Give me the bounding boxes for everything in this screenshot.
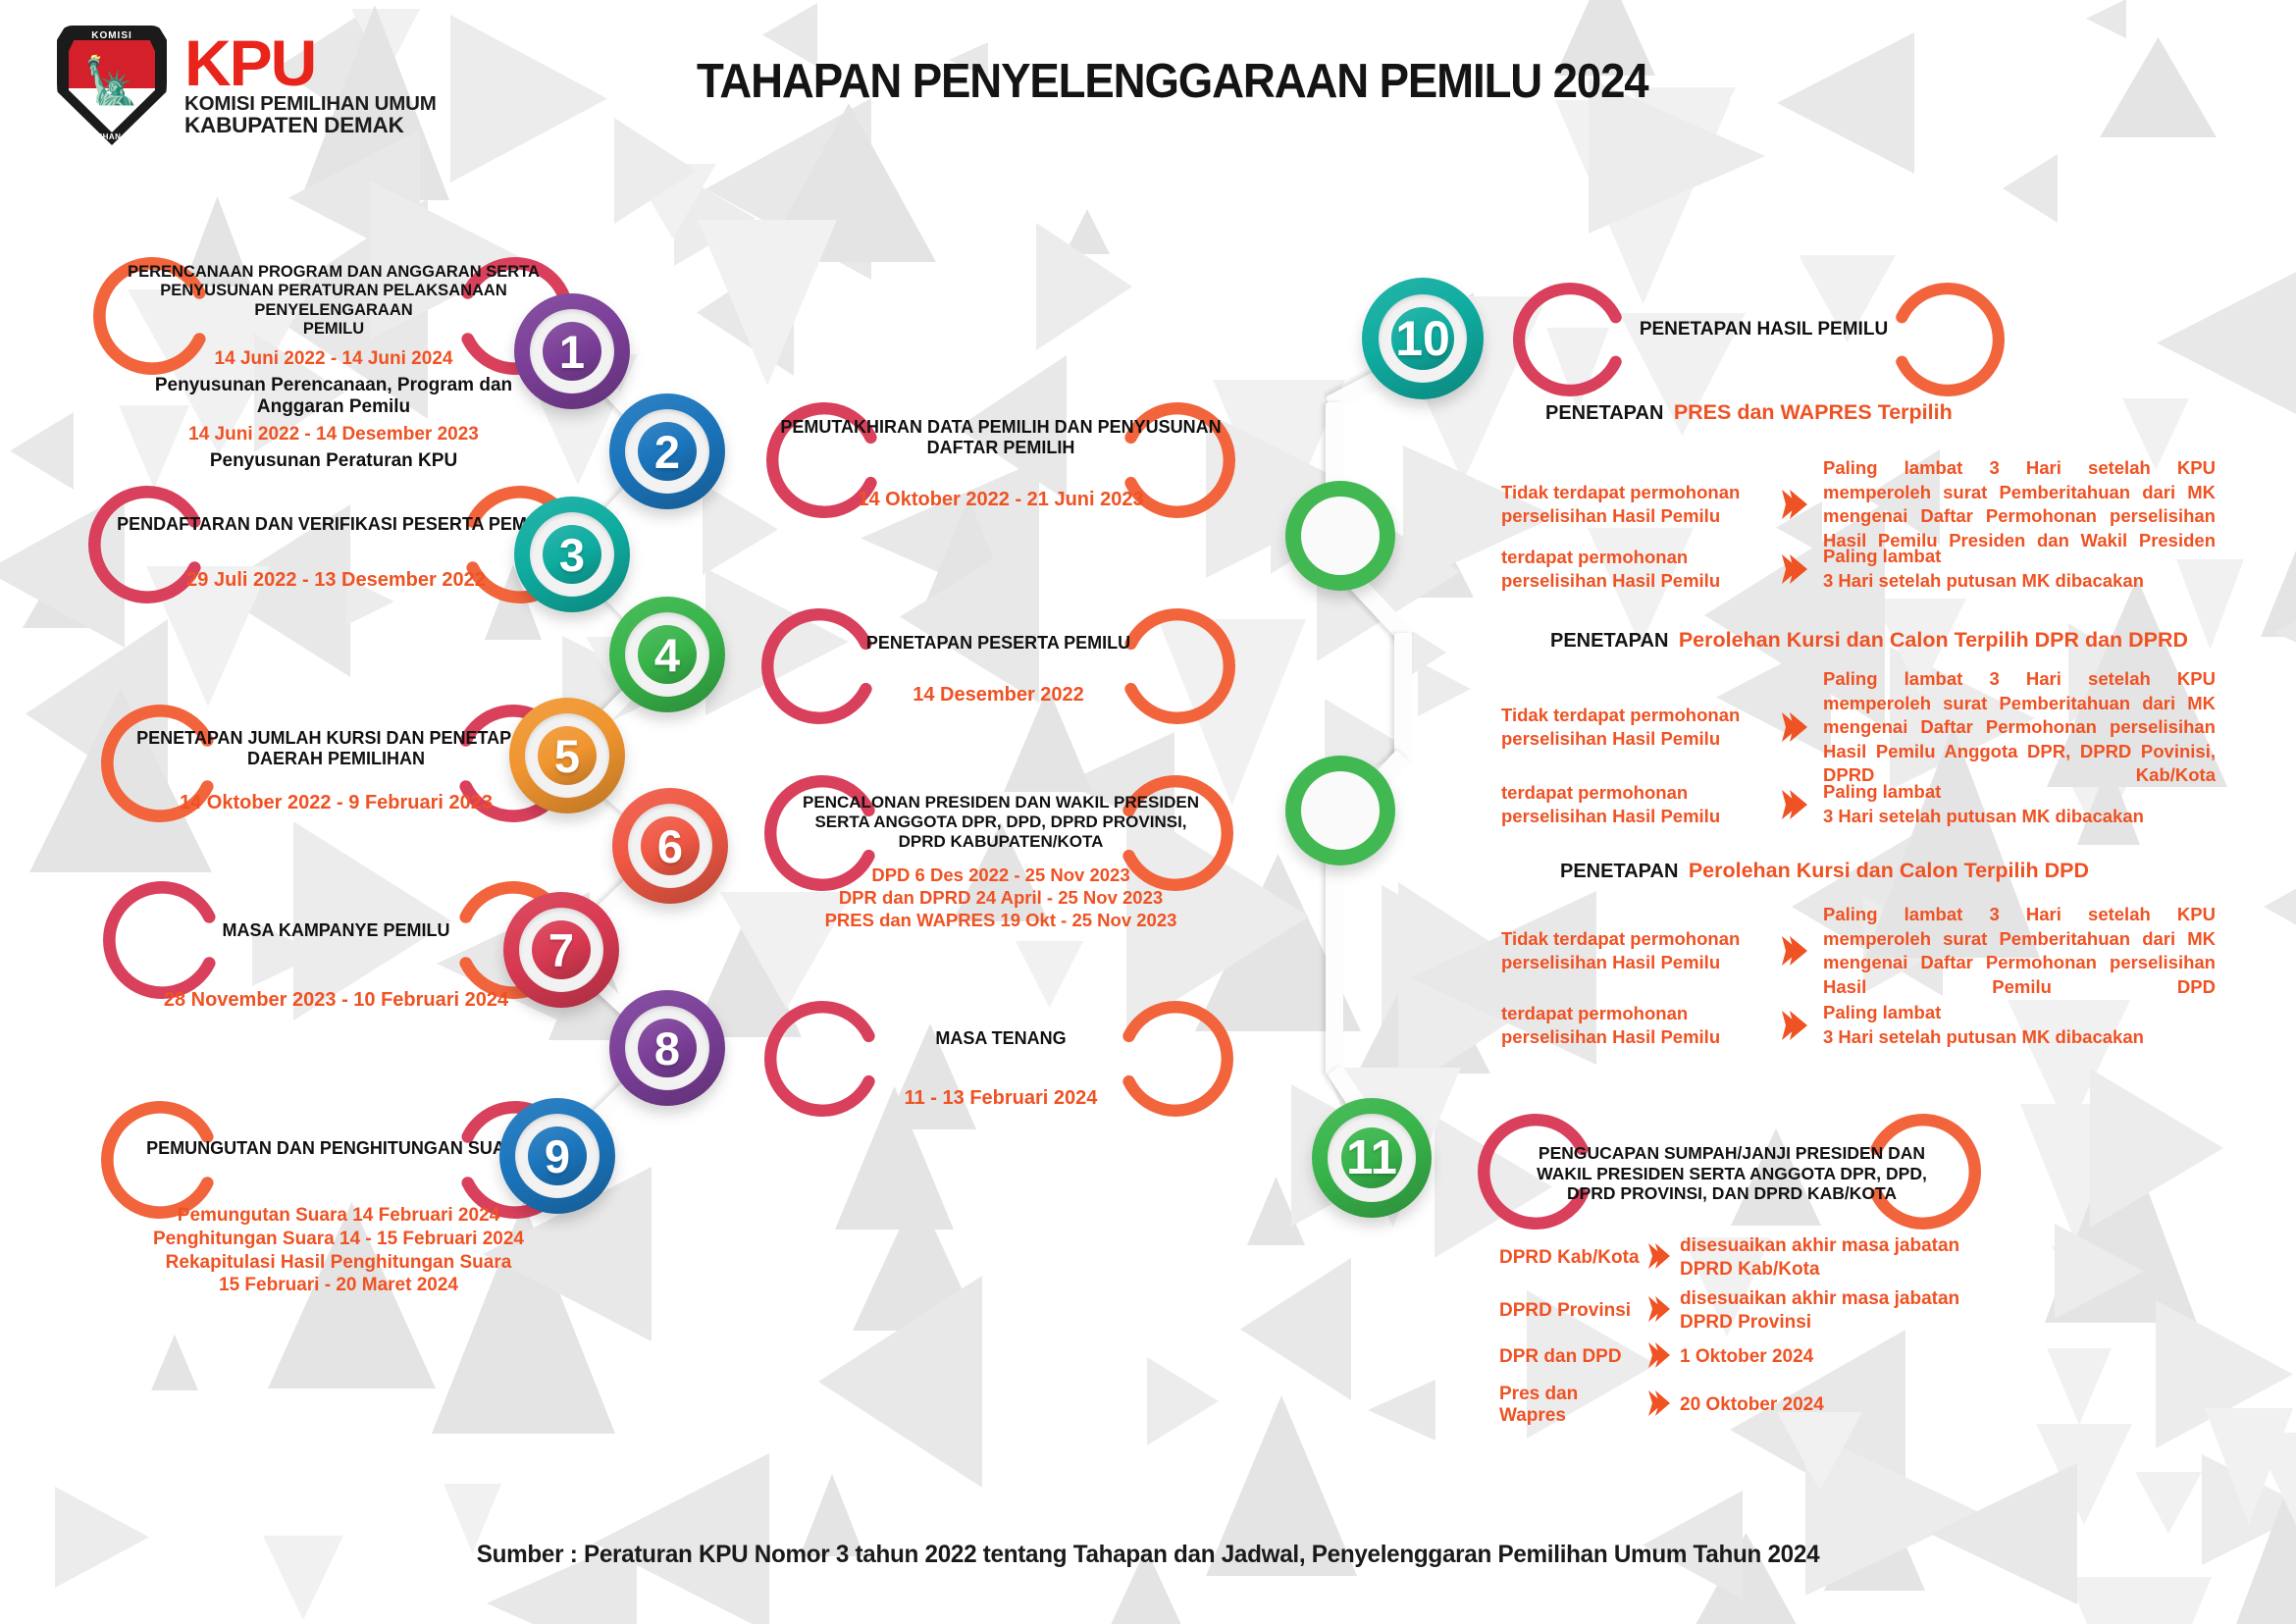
step-dates-6: DPD 6 Des 2022 - 25 Nov 2023DPR dan DPRD… xyxy=(746,864,1256,931)
bg-triangle xyxy=(2045,1118,2197,1323)
chevron-right-icon xyxy=(1646,1294,1672,1328)
emblem-bottom-label: PEMILIHAN UMUM xyxy=(57,132,167,141)
step-title-11: PENGUCAPAN SUMPAH/JANJI PRESIDEN DANWAKI… xyxy=(1462,1143,2002,1204)
bg-triangle xyxy=(1247,1177,1305,1245)
oath-date-2: disesuaikan akhir masa jabatan DPRD Prov… xyxy=(1680,1287,1959,1335)
oath-office-3: DPR dan DPD xyxy=(1499,1346,1646,1368)
step-title-6: PENCALONAN PRESIDEN DAN WAKIL PRESIDENSE… xyxy=(746,793,1256,852)
chevron-right-icon xyxy=(1780,788,1809,821)
result-outcome-3-1: Paling lambat 3 Hari setelah KPU mempero… xyxy=(1823,903,2216,999)
step-circle-2: 2 xyxy=(609,393,725,509)
step-circle-6: 6 xyxy=(612,788,728,904)
result-heading-2: PENETAPAN Perolehan Kursi dan Calon Terp… xyxy=(1550,628,2188,653)
bg-triangle xyxy=(2157,264,2296,422)
result-condition-3-1: Tidak terdapat permohonanperselisihan Ha… xyxy=(1501,927,1766,974)
kpu-logo: 🗽 KOMISI PEMILIHAN UMUM KPU KOMISI PEMIL… xyxy=(57,26,437,145)
step-dates-9: Pemungutan Suara 14 Februari 2024Penghit… xyxy=(78,1204,599,1297)
step-circle-4: 4 xyxy=(609,597,725,712)
chevron-right-icon xyxy=(1780,488,1809,521)
result-condition-3-2: terdapat permohonanperselisihan Hasil Pe… xyxy=(1501,1002,1766,1049)
bg-triangle xyxy=(2067,1577,2212,1624)
spine-segment xyxy=(1394,633,1412,761)
step-circle-7: 7 xyxy=(503,892,619,1008)
result-condition-2-2: terdapat permohonanperselisihan Hasil Pe… xyxy=(1501,781,1766,828)
bg-triangle xyxy=(594,1453,769,1624)
bg-triangle xyxy=(1147,1357,1219,1445)
result-condition-2-1: Tidak terdapat permohonanperselisihan Ha… xyxy=(1501,704,1766,751)
bg-triangle xyxy=(1416,541,1474,598)
step-circle-5: 5 xyxy=(509,698,625,813)
step-dates-8: 11 - 13 Februari 2024 xyxy=(746,1086,1256,1111)
chevron-right-icon xyxy=(1646,1241,1672,1275)
step-note-1b: Penyusunan Peraturan KPU xyxy=(69,450,599,472)
step-title-8: MASA TENANG xyxy=(746,1028,1256,1049)
bg-triangle xyxy=(2020,1104,2133,1245)
bg-triangle xyxy=(2135,1472,2202,1534)
chevron-right-icon xyxy=(1780,552,1809,586)
brand-subtitle-2: KABUPATEN DEMAK xyxy=(184,114,437,137)
result-outcome-2-1: Paling lambat 3 Hari setelah KPU mempero… xyxy=(1823,667,2216,788)
source-footer: Sumber : Peraturan KPU Nomor 3 tahun 202… xyxy=(34,1541,2262,1569)
bg-triangle xyxy=(853,1191,981,1331)
result-condition-1-1: Tidak terdapat permohonanperselisihan Ha… xyxy=(1501,481,1766,528)
bg-triangle xyxy=(1036,223,1132,350)
bg-triangle xyxy=(1930,1463,2077,1604)
step-dates-2: 14 Oktober 2022 - 21 Juni 2023 xyxy=(751,488,1251,512)
header: 🗽 KOMISI PEMILIHAN UMUM KPU KOMISI PEMIL… xyxy=(0,0,2296,167)
chevron-right-icon xyxy=(1780,710,1809,744)
step-dates-1b: 14 Juni 2022 - 14 Desember 2023 xyxy=(69,423,599,446)
chevron-right-icon xyxy=(1780,934,1809,968)
bg-triangle xyxy=(151,1335,198,1390)
step-circle-3: 3 xyxy=(514,497,630,612)
oath-date-1: disesuaikan akhir masa jabatan DPRD Kab/… xyxy=(1680,1234,1959,1282)
result-heading-3: PENETAPAN Perolehan Kursi dan Calon Terp… xyxy=(1560,859,2089,883)
step-circle-8: 8 xyxy=(609,990,725,1106)
result-outcome-1-2: Paling lambat3 Hari setelah putusan MK d… xyxy=(1823,545,2196,593)
oath-row-2: DPRD Provinsi disesuaikan akhir masa jab… xyxy=(1499,1287,1959,1335)
page-title: TAHAPAN PENYELENGGARAAN PEMILU 2024 xyxy=(697,54,1648,109)
bg-triangle xyxy=(2261,422,2296,637)
oath-date-3: 1 Oktober 2024 xyxy=(1680,1345,1813,1369)
bg-triangle xyxy=(10,412,74,490)
bg-triangle xyxy=(2090,1069,2223,1228)
bg-triangle xyxy=(2047,1348,2112,1425)
bg-triangle xyxy=(2273,584,2296,680)
result-heading-label-3: Perolehan Kursi dan Calon Terpilih DPD xyxy=(1683,859,2089,882)
step-card-8: MASA TENANG 11 - 13 Februari 2024 xyxy=(746,1028,1256,1111)
bg-triangle xyxy=(2264,215,2296,381)
brand-subtitle-1: KOMISI PEMILIHAN UMUM xyxy=(184,93,437,115)
bg-triangle xyxy=(1016,941,1083,1008)
step-card-4: PENETAPAN PESERTA PEMILU 14 Desember 202… xyxy=(746,633,1251,707)
step-card-11: PENGUCAPAN SUMPAH/JANJI PRESIDEN DANWAKI… xyxy=(1462,1143,2002,1204)
bg-triangle xyxy=(1240,1258,1351,1400)
oath-row-4: Pres dan Wapres 20 Oktober 2024 xyxy=(1499,1384,1824,1427)
bg-triangle xyxy=(2205,1408,2293,1525)
result-row-1-1: Tidak terdapat permohonanperselisihan Ha… xyxy=(1501,456,2247,552)
step-circle-9: 9 xyxy=(499,1098,615,1214)
bg-triangle xyxy=(55,1487,149,1588)
infographic-root: 🗽 KOMISI PEMILIHAN UMUM KPU KOMISI PEMIL… xyxy=(0,0,2296,1624)
bg-triangle xyxy=(2264,878,2296,935)
step-title-10: PENETAPAN HASIL PEMILU xyxy=(1496,319,2031,341)
bg-triangle xyxy=(697,249,794,376)
bg-triangle xyxy=(698,220,837,386)
result-row-2-2: terdapat permohonanperselisihan Hasil Pe… xyxy=(1501,780,2247,828)
bg-triangle xyxy=(1824,1473,1925,1591)
bg-triangle xyxy=(2055,1224,2144,1319)
bg-triangle xyxy=(1805,1430,1980,1596)
spine-ring-teal xyxy=(1285,481,1395,591)
chevron-right-icon xyxy=(1646,1388,1672,1422)
step-circle-10: 10 xyxy=(1362,278,1484,399)
spine-ring-green xyxy=(1285,756,1395,865)
oath-office-4: Pres dan Wapres xyxy=(1499,1384,1646,1427)
result-outcome-2-2: Paling lambat3 Hari setelah putusan MK d… xyxy=(1823,780,2196,828)
result-heading-1: PENETAPAN PRES dan WAPRES Terpilih xyxy=(1545,400,1953,425)
oath-office-1: DPRD Kab/Kota xyxy=(1499,1247,1646,1269)
emblem-top-label: KOMISI xyxy=(57,30,167,41)
bg-triangle xyxy=(674,171,756,266)
bg-triangle xyxy=(629,164,716,238)
result-condition-1-2: terdapat permohonanperselisihan Hasil Pe… xyxy=(1501,546,1766,593)
oath-row-3: DPR dan DPD 1 Oktober 2024 xyxy=(1499,1340,1813,1374)
brand-kpu: KPU xyxy=(184,33,437,93)
oath-row-1: DPRD Kab/Kota disesuaikan akhir masa jab… xyxy=(1499,1234,1959,1282)
result-heading-label-1: PRES dan WAPRES Terpilih xyxy=(1668,400,1953,424)
step-circle-1: 1 xyxy=(514,293,630,409)
bg-triangle xyxy=(1418,661,1471,716)
bg-triangle xyxy=(1357,943,1490,1074)
result-heading-prefix-3: PENETAPAN xyxy=(1560,861,1678,882)
result-row-3-2: terdapat permohonanperselisihan Hasil Pe… xyxy=(1501,1001,2247,1049)
step-card-10: PENETAPAN HASIL PEMILU xyxy=(1496,319,2031,341)
bg-triangle xyxy=(926,498,1011,601)
step-title-2: PEMUTAKHIRAN DATA PEMILIH DAN PENYUSUNAN… xyxy=(751,417,1251,458)
result-heading-prefix-1: PENETAPAN xyxy=(1545,402,1663,424)
oath-date-4: 20 Oktober 2024 xyxy=(1680,1393,1824,1417)
spine-segment xyxy=(1326,829,1343,1075)
step-title-4: PENETAPAN PESERTA PEMILU xyxy=(746,633,1251,654)
bg-triangle xyxy=(2036,1424,2132,1525)
oath-office-2: DPRD Provinsi xyxy=(1499,1300,1646,1322)
chevron-right-icon xyxy=(1780,1009,1809,1042)
result-heading-prefix-2: PENETAPAN xyxy=(1550,630,1668,652)
step-circle-11: 11 xyxy=(1312,1098,1432,1218)
result-outcome-1-1: Paling lambat 3 Hari setelah KPU mempero… xyxy=(1823,456,2216,552)
result-row-1-2: terdapat permohonanperselisihan Hasil Pe… xyxy=(1501,545,2247,593)
bg-triangle xyxy=(2156,1300,2293,1448)
bg-triangle xyxy=(1065,209,1110,254)
bg-triangle xyxy=(2253,1433,2296,1552)
result-heading-label-2: Perolehan Kursi dan Calon Terpilih DPR d… xyxy=(1673,628,2188,652)
step-card-6: PENCALONAN PRESIDEN DAN WAKIL PRESIDENSE… xyxy=(746,793,1256,932)
bg-triangle xyxy=(2052,1246,2115,1301)
step-card-2: PEMUTAKHIRAN DATA PEMILIH DAN PENYUSUNAN… xyxy=(751,417,1251,512)
result-row-2-1: Tidak terdapat permohonanperselisihan Ha… xyxy=(1501,667,2247,788)
bg-triangle xyxy=(1368,1380,1435,1441)
bg-triangle xyxy=(818,1276,982,1488)
garuda-emblem-icon: 🗽 KOMISI PEMILIHAN UMUM xyxy=(57,26,167,145)
result-row-3-1: Tidak terdapat permohonanperselisihan Ha… xyxy=(1501,903,2247,999)
chevron-right-icon xyxy=(1646,1340,1672,1374)
step-dates-4: 14 Desember 2022 xyxy=(746,683,1251,707)
result-outcome-3-2: Paling lambat3 Hari setelah putusan MK d… xyxy=(1823,1001,2196,1049)
